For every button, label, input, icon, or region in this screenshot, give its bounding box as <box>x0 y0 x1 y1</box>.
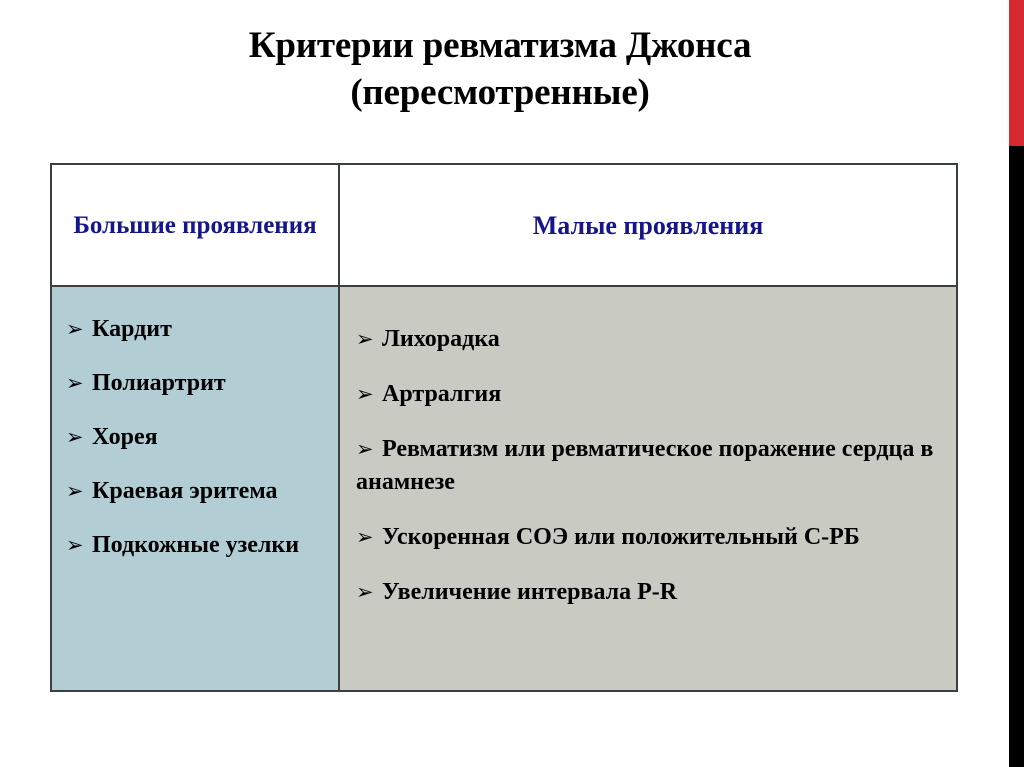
list-item-label: Ревматизм или ревматическое поражение се… <box>356 436 933 495</box>
arrow-bullet-icon: ➢ <box>66 481 92 502</box>
arrow-bullet-icon: ➢ <box>66 535 92 556</box>
column-header-major-criteria: Большие проявления <box>51 164 339 286</box>
list-item: ➢Краевая эритема <box>66 475 328 507</box>
cell-minor-criteria: ➢Лихорадка ➢Артралгия ➢Ревматизм или рев… <box>339 286 957 691</box>
arrow-bullet-icon: ➢ <box>356 527 382 548</box>
list-item-label: Подкожные узелки <box>92 532 299 558</box>
arrow-bullet-icon: ➢ <box>356 439 382 460</box>
table-header-row: Большие проявления Малые проявления <box>51 164 957 286</box>
list-item: ➢Хорея <box>66 421 328 453</box>
minor-criteria-list: ➢Лихорадка ➢Артралгия ➢Ревматизм или рев… <box>356 323 942 609</box>
list-item: ➢Артралгия <box>356 378 942 411</box>
arrow-bullet-icon: ➢ <box>356 329 382 350</box>
arrow-bullet-icon: ➢ <box>66 319 92 340</box>
arrow-bullet-icon: ➢ <box>66 427 92 448</box>
list-item-label: Полиартрит <box>92 370 226 396</box>
arrow-bullet-icon: ➢ <box>356 384 382 405</box>
major-criteria-list: ➢Кардит ➢Полиартрит ➢Хорея ➢Краевая эрит… <box>66 313 328 561</box>
page-title: Критерии ревматизма Джонса (пересмотренн… <box>40 22 960 116</box>
cell-major-criteria: ➢Кардит ➢Полиартрит ➢Хорея ➢Краевая эрит… <box>51 286 339 691</box>
list-item: ➢Увеличение интервала P-R <box>356 576 942 609</box>
list-item-label: Ускоренная СОЭ или положительный С-РБ <box>382 524 860 550</box>
list-item: ➢Ускоренная СОЭ или положительный С-РБ <box>356 521 942 554</box>
list-item-label: Артралгия <box>382 381 501 407</box>
list-item-label: Лихорадка <box>382 326 500 352</box>
list-item: ➢Лихорадка <box>356 323 942 356</box>
edge-bar-black <box>1009 146 1024 767</box>
list-item-label: Увеличение интервала P-R <box>382 579 677 605</box>
arrow-bullet-icon: ➢ <box>66 373 92 394</box>
criteria-table: Большие проявления Малые проявления ➢Кар… <box>50 163 958 692</box>
list-item: ➢Ревматизм или ревматическое поражение с… <box>356 433 942 499</box>
edge-bar-red <box>1009 0 1024 146</box>
table-row: ➢Кардит ➢Полиартрит ➢Хорея ➢Краевая эрит… <box>51 286 957 691</box>
list-item: ➢Подкожные узелки <box>66 529 328 561</box>
list-item-label: Хорея <box>92 424 158 450</box>
page-title-line-1: Критерии ревматизма Джонса <box>40 22 960 69</box>
list-item-label: Кардит <box>92 316 172 342</box>
list-item-label: Краевая эритема <box>92 478 278 504</box>
page-title-line-2: (пересмотренные) <box>40 69 960 116</box>
arrow-bullet-icon: ➢ <box>356 582 382 603</box>
list-item: ➢Кардит <box>66 313 328 345</box>
list-item: ➢Полиартрит <box>66 367 328 399</box>
column-header-minor-criteria: Малые проявления <box>339 164 957 286</box>
